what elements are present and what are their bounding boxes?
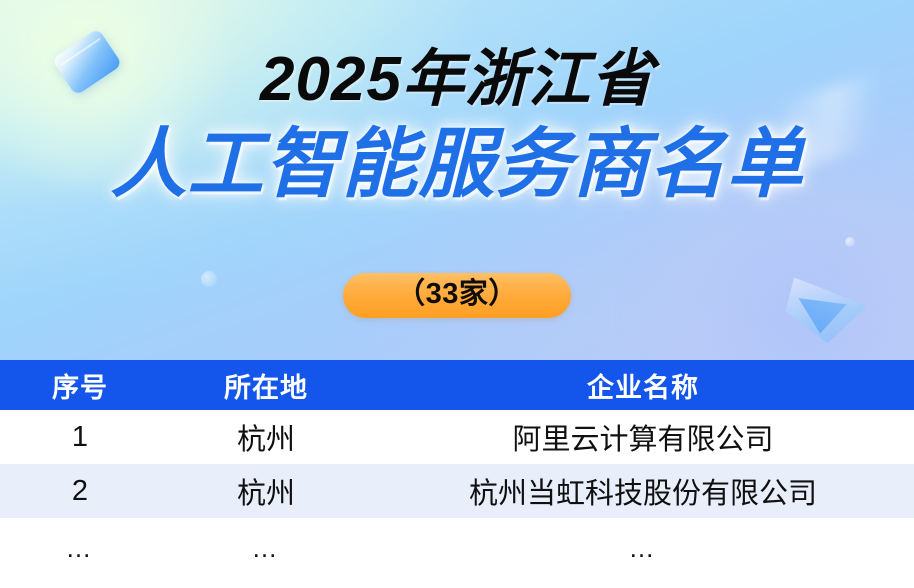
cell-index: 2	[0, 464, 160, 518]
page-title-line-1: 2025年浙江省	[0, 0, 914, 111]
sparkle-dot-icon	[845, 237, 855, 247]
page-title-line-2: 人工智能服务商名单	[0, 111, 914, 203]
title-block: 2025年浙江省 人工智能服务商名单	[0, 0, 914, 203]
table-header-row: 序号 所在地 企业名称	[0, 360, 914, 410]
cell-company-ellipsis: …	[372, 518, 914, 578]
cell-company: 杭州当虹科技股份有限公司	[372, 464, 914, 518]
cell-index-ellipsis: …	[0, 518, 160, 578]
poster-page: 2025年浙江省 人工智能服务商名单 （33家） 序号 所在地 企业名称 1 杭…	[0, 0, 914, 588]
cell-company: 阿里云计算有限公司	[372, 410, 914, 464]
table-body: 1 杭州 阿里云计算有限公司 2 杭州 杭州当虹科技股份有限公司 … … …	[0, 410, 914, 578]
table-header: 序号 所在地 企业名称	[0, 360, 914, 410]
count-badge: （33家）	[343, 273, 571, 318]
cell-location-ellipsis: …	[160, 518, 372, 578]
count-badge-wrapper: （33家）	[0, 273, 914, 318]
hero-banner: 2025年浙江省 人工智能服务商名单 （33家）	[0, 0, 914, 360]
service-provider-table: 序号 所在地 企业名称 1 杭州 阿里云计算有限公司 2 杭州 杭州当虹科技股份…	[0, 360, 914, 578]
column-header-index: 序号	[0, 360, 160, 410]
table-row: 2 杭州 杭州当虹科技股份有限公司	[0, 464, 914, 518]
cell-index: 1	[0, 410, 160, 464]
table-row-ellipsis: … … …	[0, 518, 914, 578]
column-header-location: 所在地	[160, 360, 372, 410]
column-header-company: 企业名称	[372, 360, 914, 410]
table-row: 1 杭州 阿里云计算有限公司	[0, 410, 914, 464]
cell-location: 杭州	[160, 464, 372, 518]
cell-location: 杭州	[160, 410, 372, 464]
